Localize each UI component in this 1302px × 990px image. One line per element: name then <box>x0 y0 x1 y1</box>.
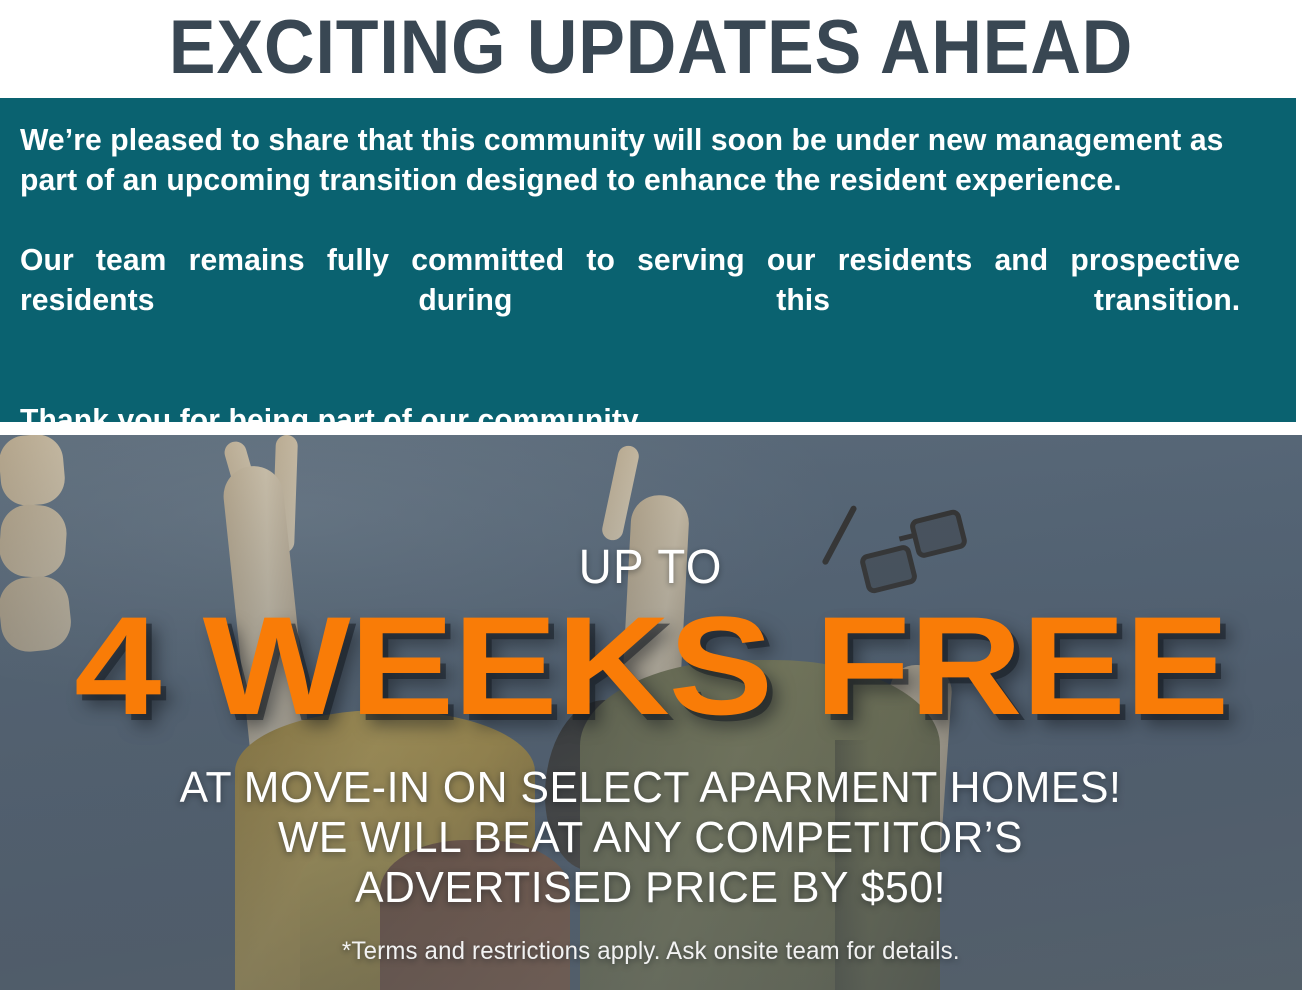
paragraph-spacer <box>20 200 1278 240</box>
promo-detail-line-3: ADVERTISED PRICE BY $50! <box>180 863 1122 913</box>
promo-copy: UP TO 4 WEEKS FREE AT MOVE-IN ON SELECT … <box>0 435 1302 990</box>
announcement-message-block: We’re pleased to share that this communi… <box>0 98 1296 422</box>
announcement-paragraph-2: Our team remains fully committed to serv… <box>20 240 1240 360</box>
page-title: EXCITING UPDATES AHEAD <box>169 7 1133 89</box>
announcement-paragraph-3: Thank you for being part of our communit… <box>20 400 1240 440</box>
promo-photo-section: UP TO 4 WEEKS FREE AT MOVE-IN ON SELECT … <box>0 435 1302 990</box>
promo-detail-lines: AT MOVE-IN ON SELECT APARMENT HOMES! WE … <box>165 763 1136 913</box>
announcement-paragraph-1: We’re pleased to share that this communi… <box>20 120 1240 200</box>
promo-detail-line-1: AT MOVE-IN ON SELECT APARMENT HOMES! <box>180 763 1122 813</box>
paragraph-spacer <box>20 360 1278 400</box>
promo-disclaimer: *Terms and restrictions apply. Ask onsit… <box>342 937 960 965</box>
promotional-flyer: EXCITING UPDATES AHEAD We’re pleased to … <box>0 0 1302 990</box>
promo-offer-headline: 4 WEEKS FREE <box>74 595 1228 737</box>
promo-detail-line-2: WE WILL BEAT ANY COMPETITOR’S <box>180 813 1122 863</box>
promo-eyebrow: UP TO <box>579 543 723 593</box>
headline-bar: EXCITING UPDATES AHEAD <box>0 0 1302 96</box>
